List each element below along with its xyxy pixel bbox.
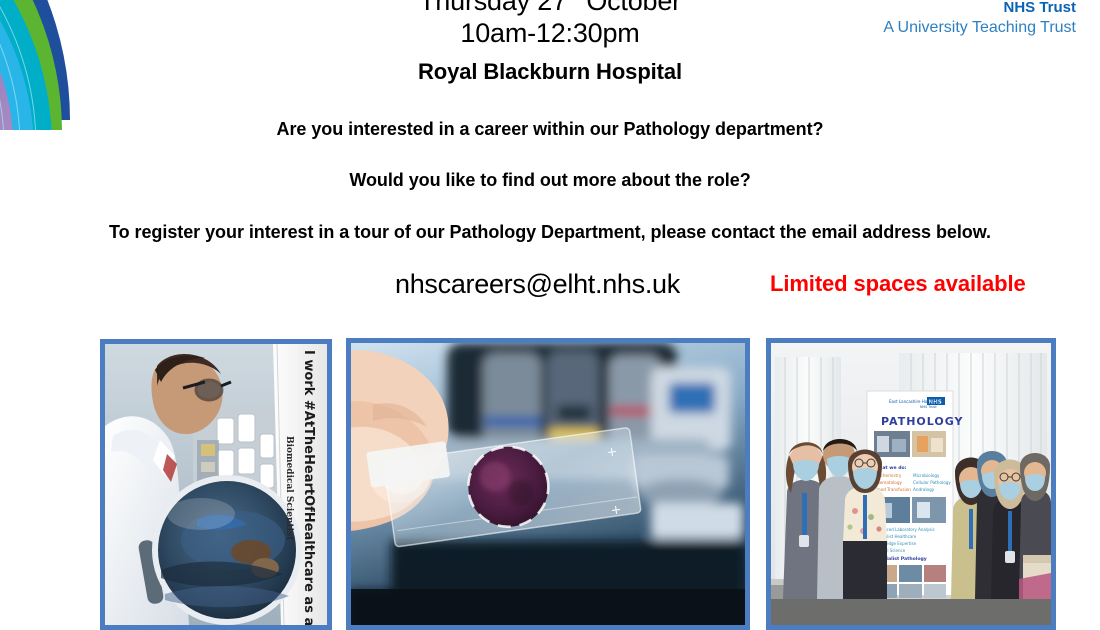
photo-1-image: I work #AtTheHeartOfHealthcare as a Biom… bbox=[105, 344, 327, 625]
svg-text:Microbiology: Microbiology bbox=[913, 473, 940, 478]
event-month: October bbox=[579, 0, 681, 16]
event-date: Thursday 27 bbox=[419, 0, 567, 16]
event-venue-line: Royal Blackburn Hospital bbox=[0, 59, 1100, 85]
event-time-line: 10am-12:30pm bbox=[0, 18, 1100, 50]
svg-text:Cellular Pathology: Cellular Pathology bbox=[913, 480, 951, 485]
photo-pathology-team: NHS East Lancashire Hospitals NHS Trust … bbox=[766, 338, 1056, 630]
photo-3-image: NHS East Lancashire Hospitals NHS Trust … bbox=[771, 343, 1051, 625]
question-role: Would you like to find out more about th… bbox=[0, 170, 1100, 191]
photo-microscope-slide: + + Hand holding a glass microscope slid… bbox=[346, 338, 750, 630]
contact-email[interactable]: nhscareers@elht.nhs.uk bbox=[395, 269, 680, 300]
poster-heading: Thursday 27th October 10am-12:30pm Royal… bbox=[0, 0, 1100, 85]
poster-canvas: East Lancashire Hospitals NHS Trust A Un… bbox=[0, 0, 1100, 630]
svg-text:+: + bbox=[610, 502, 623, 518]
svg-text:East Lancashire Hospitals: East Lancashire Hospitals bbox=[889, 399, 940, 404]
svg-text:Andrology: Andrology bbox=[913, 487, 935, 492]
photo-biomedical-scientist: I work #AtTheHeartOfHealthcare as a Biom… bbox=[100, 339, 332, 630]
photo-2-image: + + bbox=[351, 343, 745, 625]
instruction-register: To register your interest in a tour of o… bbox=[0, 222, 1100, 243]
svg-text:+: + bbox=[606, 444, 619, 460]
event-date-line: Thursday 27th October bbox=[0, 0, 1100, 18]
svg-text:NHS Trust: NHS Trust bbox=[920, 405, 937, 409]
limited-spaces-notice: Limited spaces available bbox=[770, 271, 1026, 297]
contact-row: nhscareers@elht.nhs.uk Limited spaces av… bbox=[0, 269, 1100, 311]
question-career: Are you interested in a career within ou… bbox=[0, 119, 1100, 140]
date-ordinal-suffix: th bbox=[567, 0, 579, 4]
svg-text:PATHOLOGY: PATHOLOGY bbox=[881, 415, 964, 428]
svg-text:I work #AtTheHeartOfHealthcare: I work #AtTheHeartOfHealthcare as a bbox=[301, 350, 316, 625]
svg-text:Biomedical Scientist: Biomedical Scientist bbox=[284, 436, 294, 541]
